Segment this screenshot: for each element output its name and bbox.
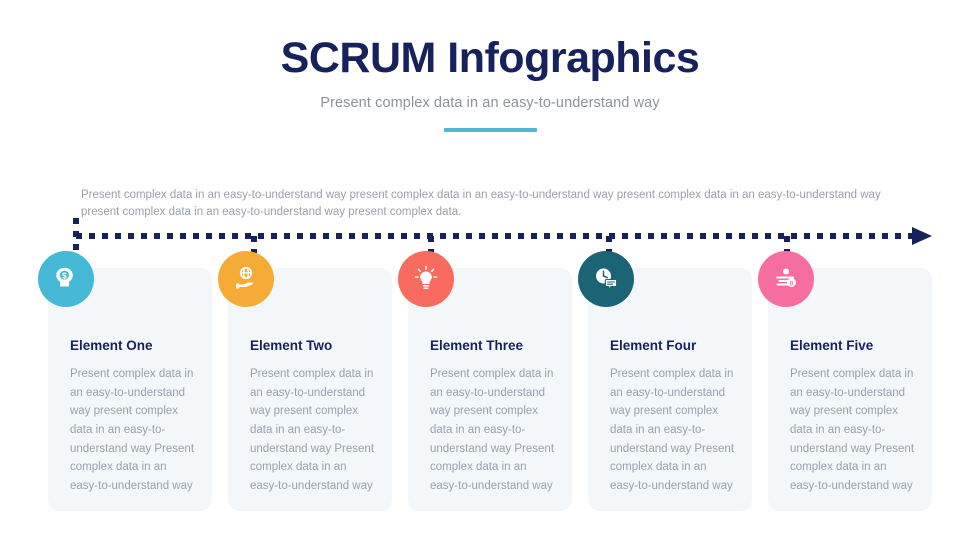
clock-chat-icon: [578, 251, 634, 307]
element-card[interactable]: Element Two Present complex data in an e…: [228, 268, 392, 511]
card-body: Present complex data in an easy-to-under…: [790, 365, 916, 495]
card-body: Present complex data in an easy-to-under…: [70, 365, 196, 495]
element-card[interactable]: 0 Element Five Present complex data in a…: [768, 268, 932, 511]
page-subtitle: Present complex data in an easy-to-under…: [0, 95, 980, 111]
card-heading: Element Four: [610, 338, 736, 353]
slide-header: SCRUM Infographics Present complex data …: [0, 0, 980, 132]
page-title: SCRUM Infographics: [0, 36, 980, 81]
svg-text:0: 0: [790, 280, 794, 287]
card-body: Present complex data in an easy-to-under…: [610, 365, 736, 495]
element-card[interactable]: Element Three Present complex data in an…: [408, 268, 572, 511]
timeline-track: [0, 212, 980, 272]
element-card[interactable]: Element Four Present complex data in an …: [588, 268, 752, 511]
card-heading: Element Three: [430, 338, 556, 353]
timeline-dotted-arrow-icon: [0, 212, 980, 272]
speed-person-icon: 0: [758, 251, 814, 307]
card-heading: Element Two: [250, 338, 376, 353]
element-cards-row: $ Element One Present complex data in an…: [48, 268, 932, 511]
card-body: Present complex data in an easy-to-under…: [430, 365, 556, 495]
hand-globe-icon: [218, 251, 274, 307]
lightbulb-icon: [398, 251, 454, 307]
svg-text:$: $: [62, 271, 67, 281]
card-heading: Element Five: [790, 338, 916, 353]
card-heading: Element One: [70, 338, 196, 353]
title-underline-rule: [444, 128, 537, 132]
element-card[interactable]: $ Element One Present complex data in an…: [48, 268, 212, 511]
head-dollar-icon: $: [38, 251, 94, 307]
card-body: Present complex data in an easy-to-under…: [250, 365, 376, 495]
